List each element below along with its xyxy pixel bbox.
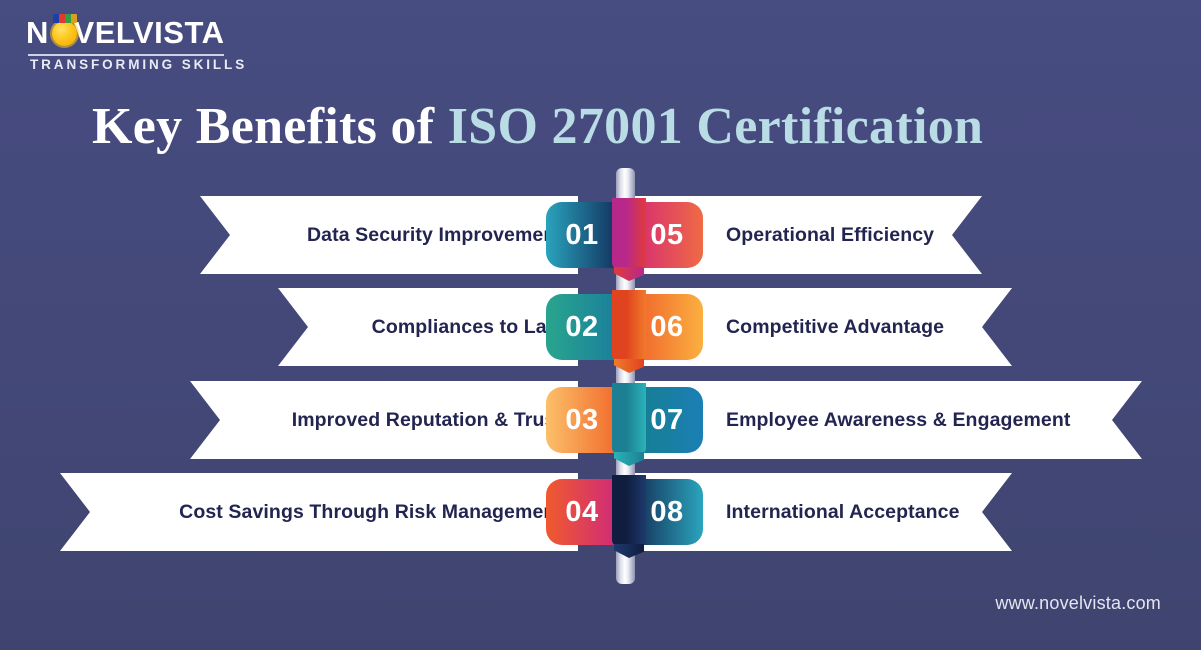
benefit-number-badge[interactable]: 03 [546, 387, 618, 453]
logo-word-left: N [26, 15, 49, 50]
benefit-label-right: Employee Awareness & Engagement [710, 381, 1070, 459]
ribbon-fold-face [612, 475, 646, 549]
benefit-label-left: Cost Savings Through Risk Management [60, 473, 578, 551]
benefit-label-right: International Acceptance [710, 473, 960, 551]
ribbon-fold-face [612, 290, 646, 364]
benefit-number-badge[interactable]: 04 [546, 479, 618, 545]
ribbon-fold [612, 383, 646, 457]
benefit-band-left[interactable]: Cost Savings Through Risk Management [60, 473, 578, 551]
benefit-label-left: Improved Reputation & Trust [190, 381, 578, 459]
benefit-row: Cost Savings Through Risk ManagementInte… [0, 473, 1201, 551]
flags-icon [53, 14, 77, 23]
benefit-row: Compliances to LawCompetitive Advantage0… [0, 288, 1201, 366]
ribbon-fold-face [612, 198, 646, 272]
benefit-label-right: Operational Efficiency [710, 196, 934, 274]
benefit-band-left[interactable]: Compliances to Law [278, 288, 578, 366]
website-url: www.novelvista.com [995, 593, 1161, 614]
benefit-row: Improved Reputation & TrustEmployee Awar… [0, 381, 1201, 459]
ribbon-fold-face [612, 383, 646, 457]
benefit-label-left: Data Security Improvement [200, 196, 578, 274]
logo-word-right: VELVISTA [74, 15, 225, 50]
ribbon-fold [612, 475, 646, 549]
title-plain: Key Benefits of [92, 98, 448, 155]
logo-tagline: TRANSFORMING SKILLS [30, 57, 247, 72]
benefit-band-left[interactable]: Data Security Improvement [200, 196, 578, 274]
ribbon-fold [612, 198, 646, 272]
title-accent: ISO 27001 Certification [448, 98, 984, 155]
novelvista-logo: NOVELVISTA TRANSFORMING SKILLS [26, 16, 226, 76]
benefit-number-badge[interactable]: 01 [546, 202, 618, 268]
benefit-label-left: Compliances to Law [278, 288, 578, 366]
page-title: Key Benefits of ISO 27001 Certification [92, 96, 983, 158]
benefit-label-right: Competitive Advantage [710, 288, 944, 366]
sun-icon [52, 21, 77, 46]
infographic-canvas: NOVELVISTA TRANSFORMING SKILLS Key Benef… [0, 0, 1201, 650]
benefit-band-left[interactable]: Improved Reputation & Trust [190, 381, 578, 459]
logo-divider [28, 54, 224, 56]
benefit-row: Data Security ImprovementOperational Eff… [0, 196, 1201, 274]
benefit-number-badge[interactable]: 02 [546, 294, 618, 360]
ribbon-fold [612, 290, 646, 364]
